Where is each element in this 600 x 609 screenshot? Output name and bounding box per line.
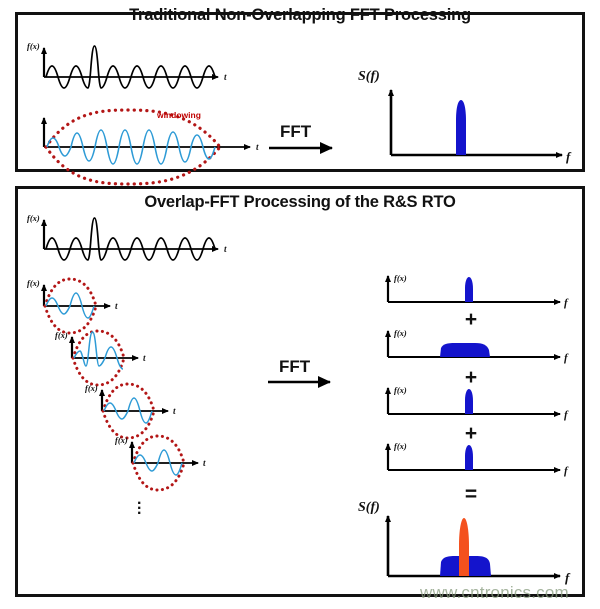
axis-label-x-overlap-spectrum-3: f xyxy=(564,409,568,421)
panel-traditional-title: Traditional Non-Overlapping FFT Processi… xyxy=(15,6,585,25)
axis-label-y-traditional-spectrum: S(f) xyxy=(358,69,380,85)
axis-label-y-overlap-window-3: f(x) xyxy=(85,383,98,393)
plus-sign-3: + xyxy=(462,423,480,444)
axis-label-y-overlap-spectrum-3: f(x) xyxy=(394,385,407,395)
axis-label-y-overlap-window-1: f(x) xyxy=(27,278,40,288)
plus-sign-2: + xyxy=(462,367,480,388)
figure-canvas: Traditional Non-Overlapping FFT Processi… xyxy=(0,0,600,609)
axis-label-y-overlap-spectrum-2: f(x) xyxy=(394,328,407,338)
axis-label-x-overlap-spectrum-1: f xyxy=(564,297,568,309)
axis-label-x-overlap-window-4: t xyxy=(203,458,206,468)
axis-label-x-overlap-input: t xyxy=(224,244,227,254)
panel-traditional xyxy=(15,12,585,172)
axis-label-y-overlap-window-2: f(x) xyxy=(55,330,68,340)
fft-label-overlap: FFT xyxy=(279,357,310,377)
axis-label-x-overlap-spectrum-4: f xyxy=(564,465,568,477)
axis-label-x-traditional-spectrum: f xyxy=(566,149,570,165)
windowing-label: windowing xyxy=(157,110,201,120)
equals-sign: = xyxy=(462,484,480,505)
axis-label-y-overlap-spectrum-4: f(x) xyxy=(394,441,407,451)
axis-label-y-overlap-result: S(f) xyxy=(358,500,380,516)
plus-sign-1: + xyxy=(462,309,480,330)
axis-label-y-overlap-input: f(x) xyxy=(27,213,40,223)
watermark: www.cntronics.com xyxy=(420,583,569,603)
panel-overlap xyxy=(15,186,585,597)
windows-ellipsis: ... xyxy=(137,497,141,512)
axis-label-x-overlap-spectrum-2: f xyxy=(564,352,568,364)
axis-label-x-traditional-windowed: t xyxy=(256,142,259,152)
axis-label-x-overlap-window-2: t xyxy=(143,353,146,363)
fft-label-traditional: FFT xyxy=(280,122,311,142)
panel-overlap-title: Overlap-FFT Processing of the R&S RTO xyxy=(15,193,585,212)
axis-label-y-overlap-window-4: f(x) xyxy=(115,435,128,445)
axis-label-x-overlap-window-3: t xyxy=(173,406,176,416)
axis-label-y-overlap-spectrum-1: f(x) xyxy=(394,273,407,283)
axis-label-y-traditional-input: f(x) xyxy=(27,41,40,51)
axis-label-x-traditional-input: t xyxy=(224,72,227,82)
axis-label-x-overlap-window-1: t xyxy=(115,301,118,311)
